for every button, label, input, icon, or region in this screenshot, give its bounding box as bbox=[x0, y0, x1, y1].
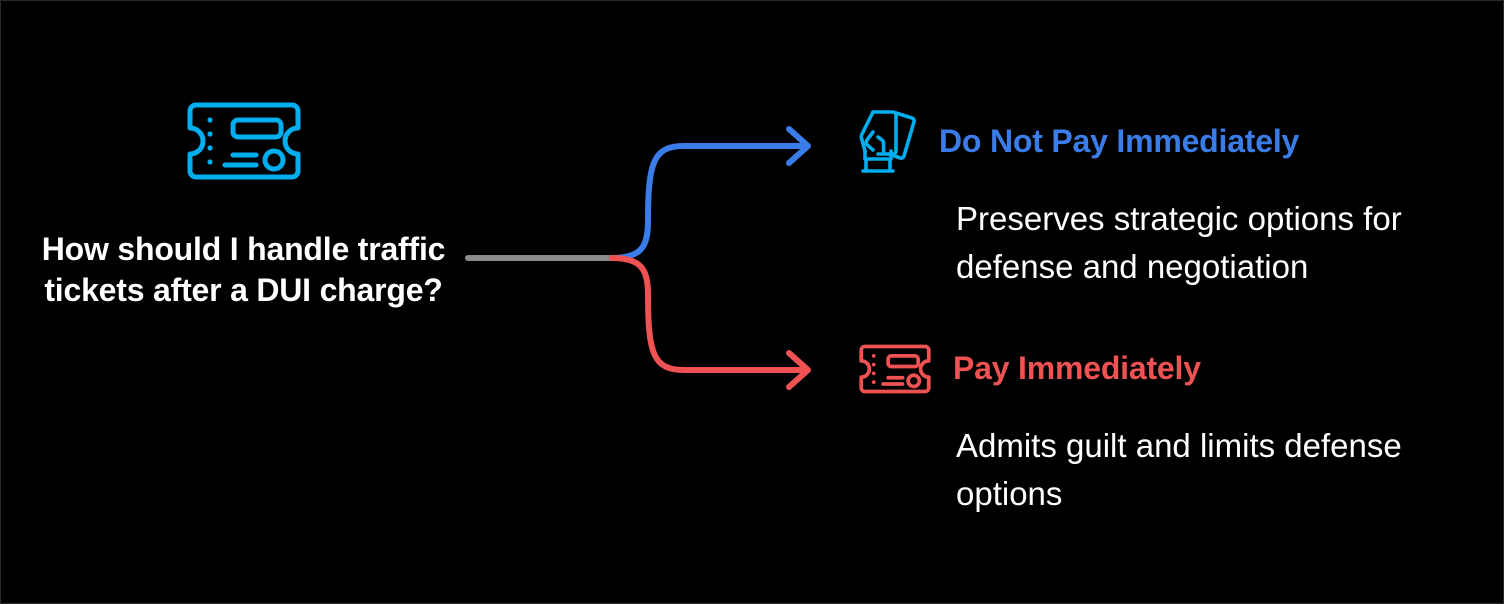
branch-header: Do Not Pay Immediately bbox=[851, 104, 1471, 179]
branch-description: Preserves strategic options for defense … bbox=[956, 195, 1466, 291]
branch-do-not-pay-immediately[interactable]: Do Not Pay Immediately Preserves strateg… bbox=[851, 104, 1471, 291]
connector-branch-top bbox=[612, 146, 804, 258]
branch-connectors bbox=[456, 101, 856, 401]
hand-holding-documents-icon bbox=[851, 106, 921, 178]
branch-description: Admits guilt and limits defense options bbox=[956, 422, 1466, 518]
connector-branch-bottom bbox=[612, 258, 804, 370]
branch-title: Do Not Pay Immediately bbox=[939, 123, 1299, 160]
root-question-text: How should I handle traffic tickets afte… bbox=[41, 229, 446, 311]
branch-title: Pay Immediately bbox=[953, 350, 1201, 387]
ticket-icon bbox=[184, 101, 304, 181]
branch-header: Pay Immediately bbox=[851, 331, 1471, 406]
root-node: How should I handle traffic tickets afte… bbox=[41, 101, 446, 311]
ticket-icon bbox=[855, 344, 935, 394]
branch-pay-immediately[interactable]: Pay Immediately Admits guilt and limits … bbox=[851, 331, 1471, 518]
diagram-canvas: How should I handle traffic tickets afte… bbox=[0, 0, 1504, 604]
